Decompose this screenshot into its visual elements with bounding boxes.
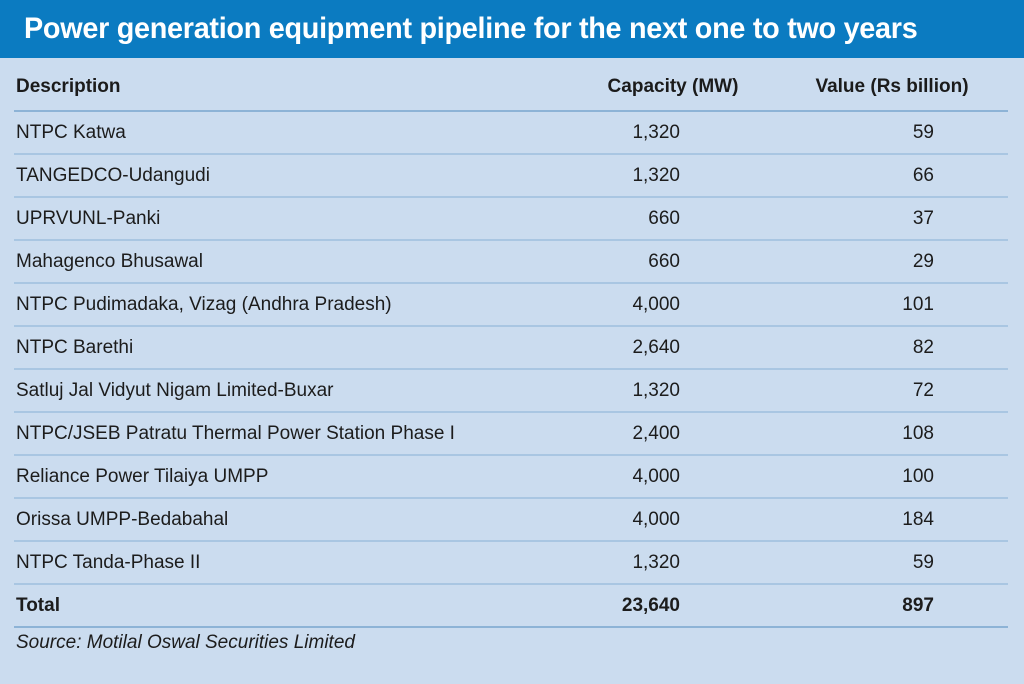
table-row: NTPC Katwa 1,320 59 (14, 111, 1008, 154)
cell-value: 59 (780, 111, 1008, 154)
cell-description: TANGEDCO-Udangudi (14, 154, 570, 197)
column-header-description: Description (14, 68, 570, 111)
table-row: Reliance Power Tilaiya UMPP 4,000 100 (14, 455, 1008, 498)
header-row: Description Capacity (MW) Value (Rs bill… (14, 68, 1008, 111)
cell-description: UPRVUNL-Panki (14, 197, 570, 240)
cell-description: NTPC Tanda-Phase II (14, 541, 570, 584)
cell-capacity: 4,000 (570, 283, 780, 326)
cell-value: 29 (780, 240, 1008, 283)
cell-value: 108 (780, 412, 1008, 455)
cell-description: NTPC Katwa (14, 111, 570, 154)
cell-capacity: 1,320 (570, 369, 780, 412)
cell-capacity: 1,320 (570, 541, 780, 584)
cell-capacity: 1,320 (570, 111, 780, 154)
cell-description: Orissa UMPP-Bedabahal (14, 498, 570, 541)
table-row: TANGEDCO-Udangudi 1,320 66 (14, 154, 1008, 197)
table-row: NTPC Pudimadaka, Vizag (Andhra Pradesh) … (14, 283, 1008, 326)
source-note: Source: Motilal Oswal Securities Limited (16, 632, 355, 654)
cell-total-capacity: 23,640 (570, 584, 780, 627)
table-figure: Power generation equipment pipeline for … (0, 0, 1024, 684)
cell-description: NTPC Pudimadaka, Vizag (Andhra Pradesh) (14, 283, 570, 326)
cell-description: Mahagenco Bhusawal (14, 240, 570, 283)
pipeline-table: Description Capacity (MW) Value (Rs bill… (14, 68, 1008, 628)
cell-value: 100 (780, 455, 1008, 498)
cell-capacity: 660 (570, 197, 780, 240)
data-table-container: Description Capacity (MW) Value (Rs bill… (14, 68, 1008, 628)
cell-capacity: 2,640 (570, 326, 780, 369)
cell-value: 37 (780, 197, 1008, 240)
cell-value: 72 (780, 369, 1008, 412)
cell-value: 82 (780, 326, 1008, 369)
cell-value: 59 (780, 541, 1008, 584)
page-title: Power generation equipment pipeline for … (24, 12, 917, 46)
column-header-value: Value (Rs billion) (780, 68, 1008, 111)
table-body: NTPC Katwa 1,320 59 TANGEDCO-Udangudi 1,… (14, 111, 1008, 627)
cell-value: 66 (780, 154, 1008, 197)
table-row: NTPC Barethi 2,640 82 (14, 326, 1008, 369)
cell-capacity: 1,320 (570, 154, 780, 197)
cell-description: NTPC Barethi (14, 326, 570, 369)
cell-value: 184 (780, 498, 1008, 541)
column-header-capacity: Capacity (MW) (570, 68, 780, 111)
cell-capacity: 660 (570, 240, 780, 283)
table-row: NTPC Tanda-Phase II 1,320 59 (14, 541, 1008, 584)
cell-value: 101 (780, 283, 1008, 326)
table-row: NTPC/JSEB Patratu Thermal Power Station … (14, 412, 1008, 455)
cell-capacity: 4,000 (570, 455, 780, 498)
cell-description: Reliance Power Tilaiya UMPP (14, 455, 570, 498)
table-row: UPRVUNL-Panki 660 37 (14, 197, 1008, 240)
table-row: Satluj Jal Vidyut Nigam Limited-Buxar 1,… (14, 369, 1008, 412)
cell-total-value: 897 (780, 584, 1008, 627)
cell-description: NTPC/JSEB Patratu Thermal Power Station … (14, 412, 570, 455)
cell-total-label: Total (14, 584, 570, 627)
cell-capacity: 4,000 (570, 498, 780, 541)
table-row: Mahagenco Bhusawal 660 29 (14, 240, 1008, 283)
cell-capacity: 2,400 (570, 412, 780, 455)
table-header: Description Capacity (MW) Value (Rs bill… (14, 68, 1008, 111)
table-total-row: Total 23,640 897 (14, 584, 1008, 627)
figure-title-bar: Power generation equipment pipeline for … (0, 0, 1024, 58)
table-row: Orissa UMPP-Bedabahal 4,000 184 (14, 498, 1008, 541)
cell-description: Satluj Jal Vidyut Nigam Limited-Buxar (14, 369, 570, 412)
